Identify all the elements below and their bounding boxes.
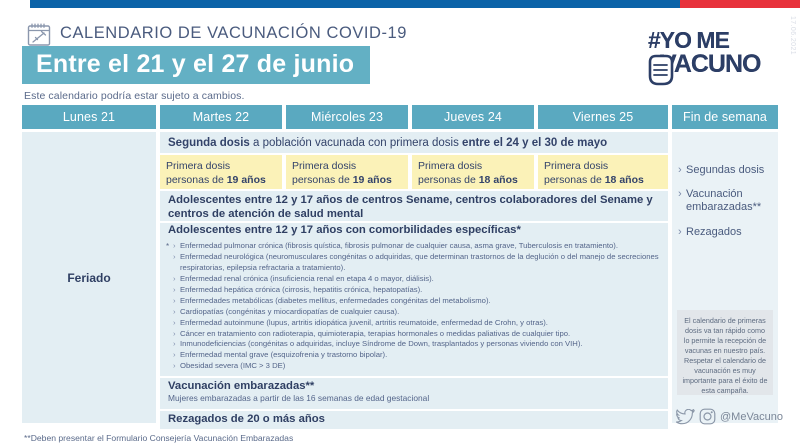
column-header-miercoles: Miércoles 23 <box>286 105 408 129</box>
first-dose-line1: Primera dosis <box>418 159 534 173</box>
feriado-label: Feriado <box>67 271 110 285</box>
asterisk-marker: * <box>166 242 169 251</box>
adolescents-comorbid-title: Adolescentes entre 12 y 17 años con como… <box>160 223 668 239</box>
subtitle-note: Este calendario podría estar sujeto a ca… <box>24 90 245 102</box>
comorbidity-item: Cardiopatías (congénitas y miocardiopatí… <box>174 307 662 318</box>
column-header-jueves: Jueves 24 <box>412 105 534 129</box>
weekend-items-list: Segundas dosis Vacunación embarazadas** … <box>672 132 778 239</box>
column-header-fin-de-semana: Fin de semana <box>672 105 778 129</box>
second-dose-bold-end: entre el 24 y el 30 de mayo <box>462 137 607 149</box>
second-dose-banner: Segunda dosis a población vacunada con p… <box>160 132 668 153</box>
calendar-syringe-icon <box>26 22 52 48</box>
page-title: CALENDARIO DE VACUNACIÓN COVID-19 <box>60 24 407 43</box>
first-dose-line2-plain: personas de <box>292 174 353 186</box>
comorbidity-item: Cáncer en tratamiento con radioterapia, … <box>174 329 662 340</box>
column-header-martes: Martes 22 <box>160 105 282 129</box>
vaccination-calendar-grid: Lunes 21 Martes 22 Miércoles 23 Jueves 2… <box>22 105 778 423</box>
weekend-item-embarazadas: Vacunación embarazadas** <box>678 188 778 214</box>
first-dose-age: 18 años <box>479 174 518 186</box>
column-header-viernes: Viernes 25 <box>538 105 668 129</box>
pregnant-vaccination-block: Vacunación embarazadas** Mujeres embaraz… <box>160 378 668 409</box>
first-dose-age: 19 años <box>227 174 266 186</box>
flag-red-segment <box>680 0 800 8</box>
twitter-icon[interactable] <box>676 409 695 425</box>
comorbidities-list: Enfermedad pulmonar crónica (fibrosis qu… <box>174 241 662 372</box>
first-dose-line1: Primera dosis <box>292 159 408 173</box>
first-dose-age: 18 años <box>605 174 644 186</box>
first-dose-line1: Primera dosis <box>544 159 668 173</box>
flag-blue-segment <box>30 0 680 8</box>
campaign-note-box: El calendario de primeras dosis va tan r… <box>677 310 773 395</box>
first-dose-box-martes: Primera dosis personas de 19 años <box>160 155 282 189</box>
publication-date: 17.06.2021 <box>789 16 796 55</box>
comorbidity-item: Enfermedad renal crónica (insuficiencia … <box>174 274 662 285</box>
column-header-lunes: Lunes 21 <box>22 105 156 129</box>
second-dose-middle: a población vacunada con primera dosis <box>250 137 462 149</box>
first-dose-age: 19 años <box>353 174 392 186</box>
second-dose-bold-start: Segunda dosis <box>168 137 250 149</box>
yo-me-vacuno-logo: #YO ME #YO ME VACUNO VACUNO <box>640 20 762 94</box>
weekend-item-rezagados: Rezagados <box>678 226 778 239</box>
comorbidity-item: Obesidad severa (IMC > 3 DE) <box>174 361 662 372</box>
social-media-row: @MeVacuno <box>676 408 783 425</box>
footnote: **Deben presentar el Formulario Consejer… <box>24 433 293 443</box>
instagram-icon[interactable] <box>699 408 716 425</box>
comorbidity-item: Enfermedad pulmonar crónica (fibrosis qu… <box>174 241 662 252</box>
header: CALENDARIO DE VACUNACIÓN COVID-19 Entre … <box>0 8 800 104</box>
comorbidity-item: Enfermedad mental grave (esquizofrenia y… <box>174 350 662 361</box>
monday-column-cell: Feriado <box>22 132 156 423</box>
first-dose-box-viernes: Primera dosis personas de 18 años <box>538 155 668 189</box>
chile-flag-bar <box>0 0 800 8</box>
weekend-item-segundas-dosis: Segundas dosis <box>678 164 778 177</box>
first-dose-line2-plain: personas de <box>166 174 227 186</box>
first-dose-line2-plain: personas de <box>544 174 605 186</box>
weekend-column-cell: Segundas dosis Vacunación embarazadas** … <box>672 132 778 423</box>
comorbidity-item: Inmunodeficiencias (congénitas o adquiri… <box>174 339 662 350</box>
first-dose-line1: Primera dosis <box>166 159 282 173</box>
comorbidity-item: Enfermedad autoinmune (lupus, artritis i… <box>174 318 662 329</box>
comorbidity-item: Enfermedades metabólicas (diabetes melli… <box>174 296 662 307</box>
date-range-band: Entre el 21 y el 27 de junio <box>22 46 370 84</box>
comorbidity-item: Enfermedad hepática crónica (cirrosis, h… <box>174 285 662 296</box>
first-dose-box-miercoles: Primera dosis personas de 19 años <box>286 155 408 189</box>
stragglers-block: Rezagados de 20 o más años <box>160 411 668 429</box>
first-dose-line2-plain: personas de <box>418 174 479 186</box>
pregnant-title: Vacunación embarazadas** <box>168 380 662 392</box>
comorbidity-item: Enfermedad neurológica (neuromusculares … <box>174 252 662 274</box>
social-handle[interactable]: @MeVacuno <box>720 411 783 423</box>
comorbidities-list-block: * Enfermedad pulmonar crónica (fibrosis … <box>160 239 668 376</box>
flag-white-segment <box>0 0 30 8</box>
pregnant-subtitle: Mujeres embarazadas a partir de las 16 s… <box>168 393 662 403</box>
adolescents-sename-block: Adolescentes entre 12 y 17 años de centr… <box>160 191 668 221</box>
first-dose-box-jueves: Primera dosis personas de 18 años <box>412 155 534 189</box>
svg-text:VACUNO: VACUNO <box>660 50 761 78</box>
